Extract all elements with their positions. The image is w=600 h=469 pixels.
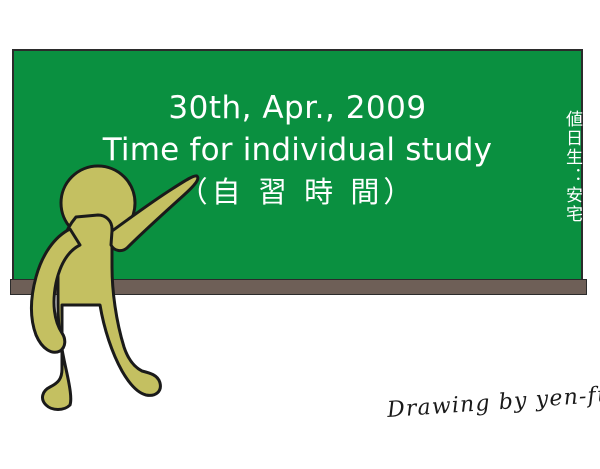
illustration-canvas: 30th, Apr., 2009 Time for individual stu… bbox=[0, 0, 600, 469]
stick-figure-pointing bbox=[0, 155, 220, 420]
artist-signature: Drawing by yen-fu bbox=[386, 382, 600, 423]
duty-student-note: 値日生：安宅 bbox=[556, 110, 582, 224]
